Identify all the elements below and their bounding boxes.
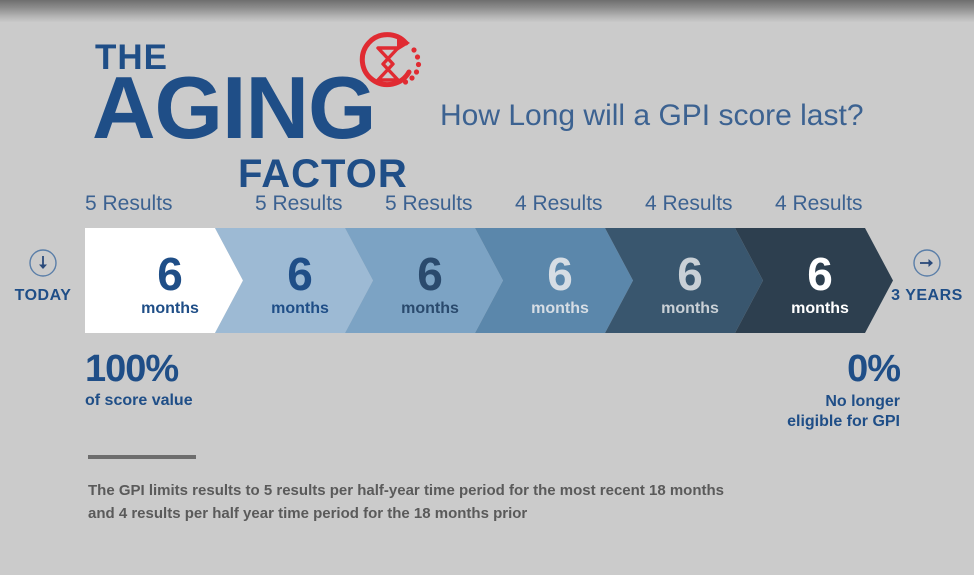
logo-line-aging: AGING (92, 64, 375, 152)
logo-line-factor: FACTOR (238, 154, 408, 194)
timeline-end-label: 3 YEARS (882, 287, 972, 305)
results-label-3: 5 Results (385, 192, 473, 216)
score-percent-start: 100% (85, 350, 193, 388)
segment-duration-value: 6 (287, 248, 313, 300)
segment-duration-unit: months (791, 300, 849, 317)
score-value-start: 100% of score value (85, 350, 193, 410)
segment-duration-value: 6 (677, 248, 703, 300)
segment-duration-value: 6 (547, 248, 573, 300)
score-percent-end: 0% (787, 350, 900, 388)
timeline-start-label: TODAY (4, 287, 82, 305)
results-label-6: 4 Results (775, 192, 863, 216)
footnote-line-2: and 4 results per half year time period … (88, 502, 888, 525)
segment-duration-unit: months (661, 300, 719, 317)
footnote-divider (88, 455, 196, 459)
arrow-right-circle-icon (912, 265, 942, 282)
results-label-5: 4 Results (645, 192, 733, 216)
segment-duration-unit: months (271, 300, 329, 317)
footnote-line-1: The GPI limits results to 5 results per … (88, 479, 888, 502)
results-label-2: 5 Results (255, 192, 343, 216)
page-title: How Long will a GPI score last? (440, 99, 864, 133)
score-value-end: 0% No longer eligible for GPI (787, 350, 900, 432)
score-caption-end-line2: eligible for GPI (787, 412, 900, 432)
segment-duration-unit: months (141, 300, 199, 317)
segment-duration-unit: months (531, 300, 589, 317)
score-caption-start: of score value (85, 392, 193, 410)
timeline-end-marker: 3 YEARS (882, 248, 972, 305)
results-label-row: 5 Results 5 Results 5 Results 4 Results … (85, 192, 893, 222)
timeline-start-marker: TODAY (4, 248, 82, 305)
aging-factor-logo: THE AGING FACTOR (92, 32, 432, 172)
results-label-4: 4 Results (515, 192, 603, 216)
arrow-down-circle-icon (28, 265, 58, 282)
segment-duration-value: 6 (157, 248, 183, 300)
score-caption-end-line1: No longer (787, 392, 900, 412)
top-gradient-bar (0, 0, 974, 22)
footnote-text: The GPI limits results to 5 results per … (88, 479, 888, 526)
segment-duration-value: 6 (807, 248, 833, 300)
segment-duration-unit: months (401, 300, 459, 317)
hourglass-refresh-icon (352, 28, 424, 105)
segment-duration-value: 6 (417, 248, 443, 300)
results-label-1: 5 Results (85, 192, 173, 216)
aging-timeline-band: 6months6months6months6months6months6mont… (85, 228, 893, 333)
